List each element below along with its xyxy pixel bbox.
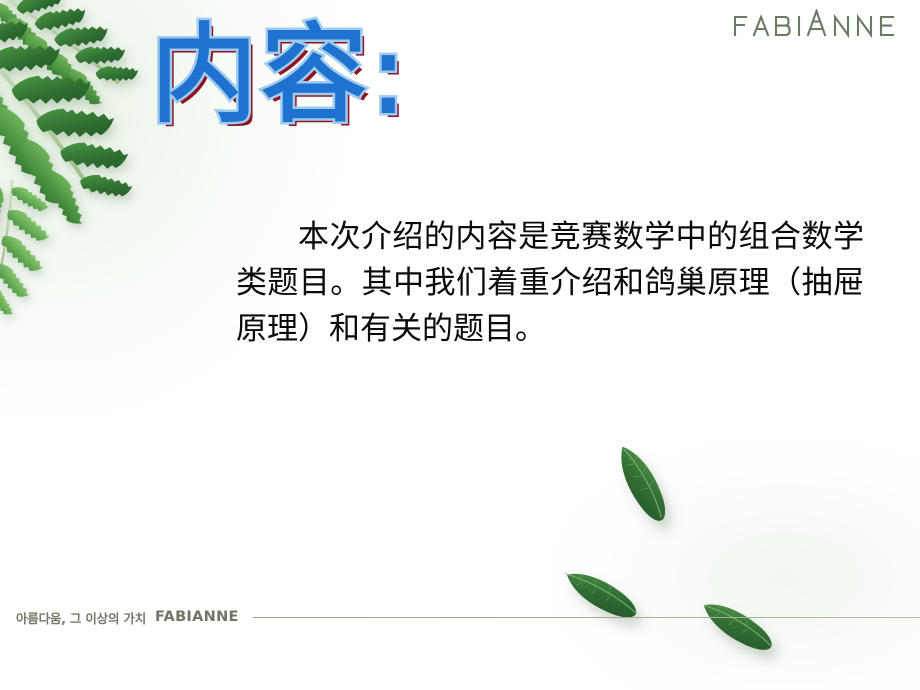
fabianne-logo: [730, 9, 908, 39]
slide-title: 内容: 内容: 内容:: [150, 6, 670, 156]
background-tint-bottom: [500, 420, 920, 690]
body-paragraph: 本次介绍的内容是竞赛数学中的组合数学类题目。其中我们着重介绍和鸽巢原理（抽屉原理…: [236, 214, 864, 352]
footer-brand: FABIANNE: [155, 609, 239, 625]
footer-divider: [253, 617, 920, 618]
slide-title-face: 内容:: [150, 6, 670, 146]
leaf-decoration: [560, 430, 920, 690]
slide-footer: 아름다움, 그 이상의 가치 FABIANNE: [0, 604, 920, 630]
slide-canvas: 内容: 内容: 内容: 本次介绍的内容是竞赛数学中的组合数学类题目。其中我们着重…: [0, 0, 920, 690]
footer-tagline: 아름다움, 그 이상의 가치: [16, 608, 146, 627]
